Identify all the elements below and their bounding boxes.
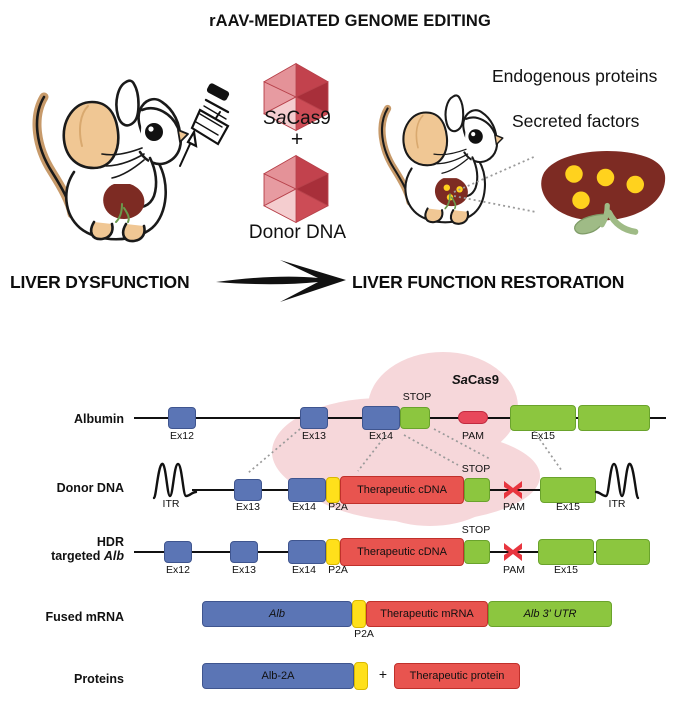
row-label-hdr: HDR targeted Alb [20,535,124,563]
pam-mutated-x-icon [500,540,526,564]
sacas9-rest: Cas9 [286,108,330,129]
row-label-fused-mrna: Fused mRNA [20,610,124,624]
tick-ex14: Ex14 [282,501,326,513]
tick-pam: PAM [492,501,536,513]
protein-segment-therapeutic: Therapeutic protein [394,663,520,689]
tick-ex15: Ex15 [542,564,590,576]
protein-segment-therapeutic-label: Therapeutic protein [395,664,519,688]
therapeutic-cdna-label: Therapeutic cDNA [341,539,463,565]
p2a-box [352,600,366,628]
row-label-donor-dna: Donor DNA [20,481,124,495]
sacas9-annotation: SaCas9 [452,372,499,387]
stop-label: STOP [448,524,504,536]
exon-box-ex14 [288,540,326,564]
mrna-segment-3utr-label: Alb 3' UTR [489,602,611,626]
tick-p2a: P2A [348,628,380,640]
mrna-segment-therapeutic-label: Therapeutic mRNA [367,602,487,626]
row-label-albumin: Albumin [28,412,124,426]
utr-box-3utr [596,539,650,565]
tick-itr-left: ITR [146,498,196,510]
tick-itr-right: ITR [592,498,642,510]
capsid-sacas9-label: SaCas9 [222,108,372,130]
mrna-segment-alb-label: Alb [203,602,351,626]
capsid-donor-dna-label: Donor DNA [205,222,390,244]
exon-box-ex12 [164,541,192,563]
row-label-proteins: Proteins [20,672,124,686]
endogenous-proteins-label: Endogenous proteins [492,66,700,87]
stop-label: STOP [389,391,445,403]
homology-guides [190,425,670,487]
mrna-segment-3utr: Alb 3' UTR [488,601,612,627]
protein-segment-alb2a: Alb-2A [202,663,354,689]
tick-ex13: Ex13 [224,501,272,513]
protein-segment-alb2a-label: Alb-2A [203,664,353,688]
aav-capsid-icon [258,152,334,226]
liver-restoration-label: LIVER FUNCTION RESTORATION [352,272,624,293]
plus-sign-top: + [222,128,372,152]
pam-site [458,411,488,424]
plus-sign-proteins: + [374,666,392,682]
utr-box-ex15 [538,539,594,565]
tick-pam: PAM [492,564,536,576]
row-label-hdr-line2: targeted Alb [20,549,124,563]
tick-ex15: Ex15 [544,501,592,513]
sacas9-annot-rest: Cas9 [468,372,499,387]
tick-ex13: Ex13 [220,564,268,576]
liver-icon [532,142,672,248]
sacas9-annot-italic: Sa [452,372,468,387]
p2a-box [354,662,368,690]
mrna-segment-alb: Alb [202,601,352,627]
row-label-hdr-line1: HDR [20,535,124,549]
arrow-right-icon [214,258,350,304]
figure-root: rAAV-MEDIATED GENOME EDITING [0,0,700,721]
figure-title: rAAV-MEDIATED GENOME EDITING [0,12,700,31]
therapeutic-cdna-box: Therapeutic cDNA [340,538,464,566]
exon-box-ex13 [230,541,258,563]
sacas9-italic-prefix: Sa [263,108,286,129]
mrna-segment-therapeutic: Therapeutic mRNA [366,601,488,627]
secreted-factors-label: Secreted factors [512,111,700,132]
utr-box-stop [464,540,490,564]
tick-ex12: Ex12 [154,564,202,576]
liver-dysfunction-label: LIVER DYSFUNCTION [10,272,189,293]
tick-ex14: Ex14 [282,564,326,576]
p2a-box [326,539,340,565]
